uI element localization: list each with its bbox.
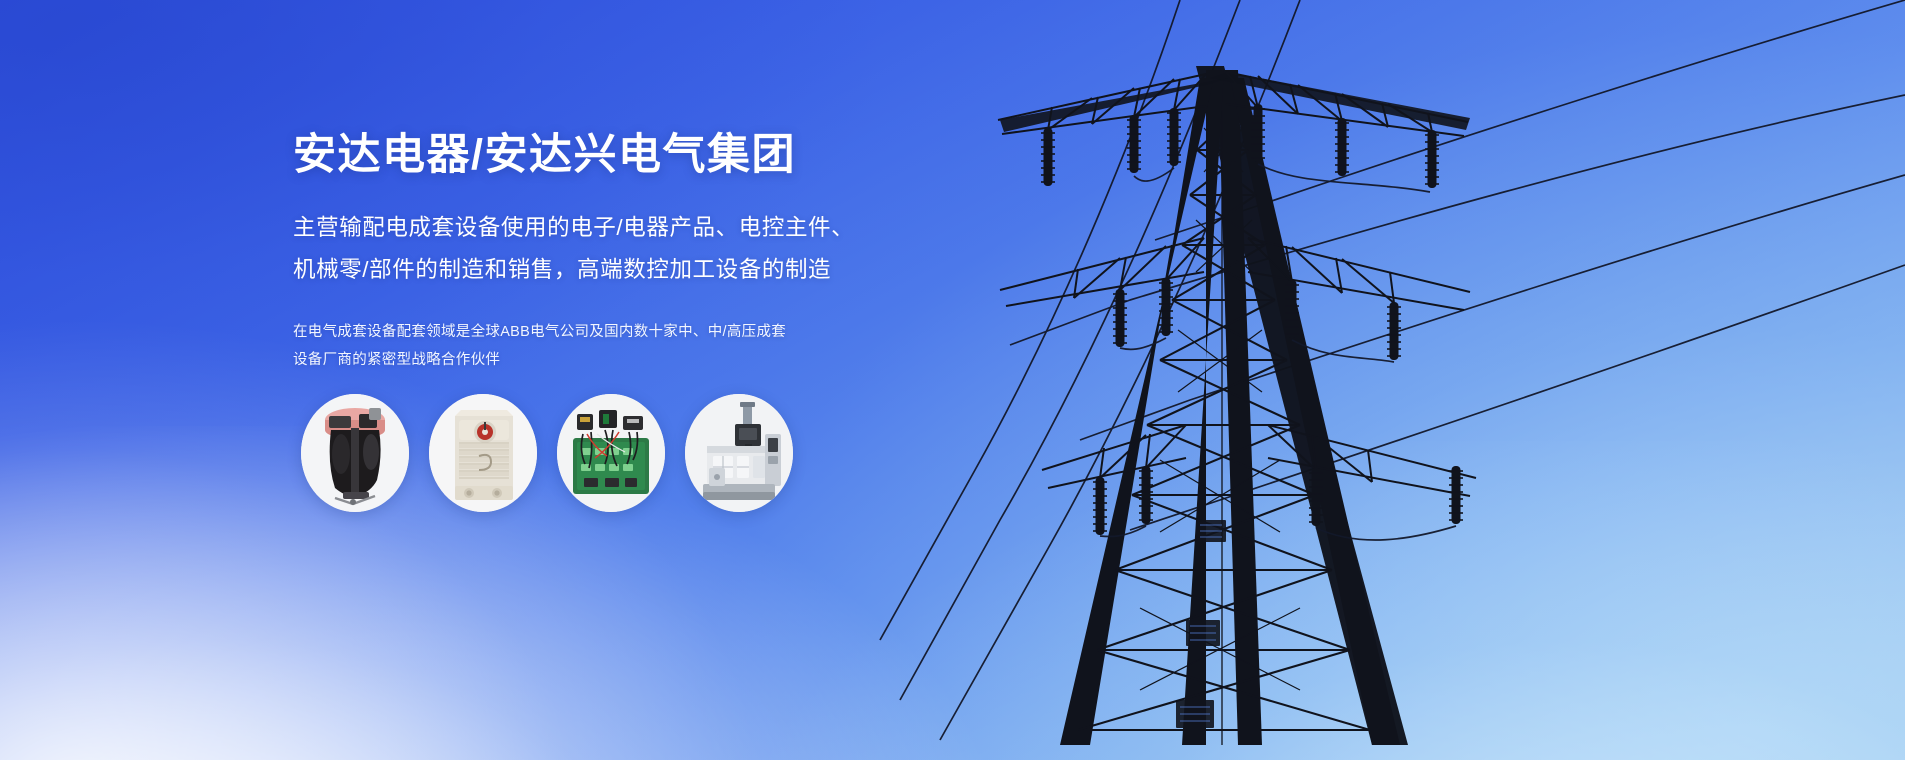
page-title: 安达电器/安达兴电气集团 bbox=[293, 132, 1013, 179]
transmission-tower-image bbox=[0, 0, 1905, 760]
description-line-2: 设备厂商的紧密型战略合作伙伴 bbox=[293, 346, 1013, 374]
subtitle-line-1: 主营输配电成套设备使用的电子/电器产品、电控主件、 bbox=[293, 207, 1013, 249]
product-thumbnail-list bbox=[301, 394, 793, 512]
product-thumb-vacuum-interrupter[interactable] bbox=[301, 394, 409, 512]
banner-description: 在电气成套设备配套领域是全球ABB电气公司及国内数十家中、中/高压成套 设备厂商… bbox=[293, 318, 1013, 375]
cnc-machine-thumb-icon bbox=[685, 394, 793, 512]
hero-banner: 安达电器/安达兴电气集团 主营输配电成套设备使用的电子/电器产品、电控主件、 机… bbox=[0, 0, 1905, 760]
pcb-wiring-thumb-icon bbox=[557, 394, 665, 512]
product-thumb-thermostat[interactable] bbox=[429, 394, 537, 512]
product-thumb-cnc-machine[interactable] bbox=[685, 394, 793, 512]
banner-subtitle: 主营输配电成套设备使用的电子/电器产品、电控主件、 机械零/部件的制造和销售，高… bbox=[293, 207, 1013, 290]
vacuum-interrupter-thumb-icon bbox=[301, 394, 409, 512]
tower-structure bbox=[1060, 66, 1408, 745]
banner-copy: 安达电器/安达兴电气集团 主营输配电成套设备使用的电子/电器产品、电控主件、 机… bbox=[293, 132, 1013, 374]
product-thumb-pcb-wiring[interactable] bbox=[557, 394, 665, 512]
thermostat-thumb-icon bbox=[429, 394, 537, 512]
description-line-1: 在电气成套设备配套领域是全球ABB电气公司及国内数十家中、中/高压成套 bbox=[293, 318, 1013, 346]
subtitle-line-2: 机械零/部件的制造和销售，高端数控加工设备的制造 bbox=[293, 249, 1013, 291]
